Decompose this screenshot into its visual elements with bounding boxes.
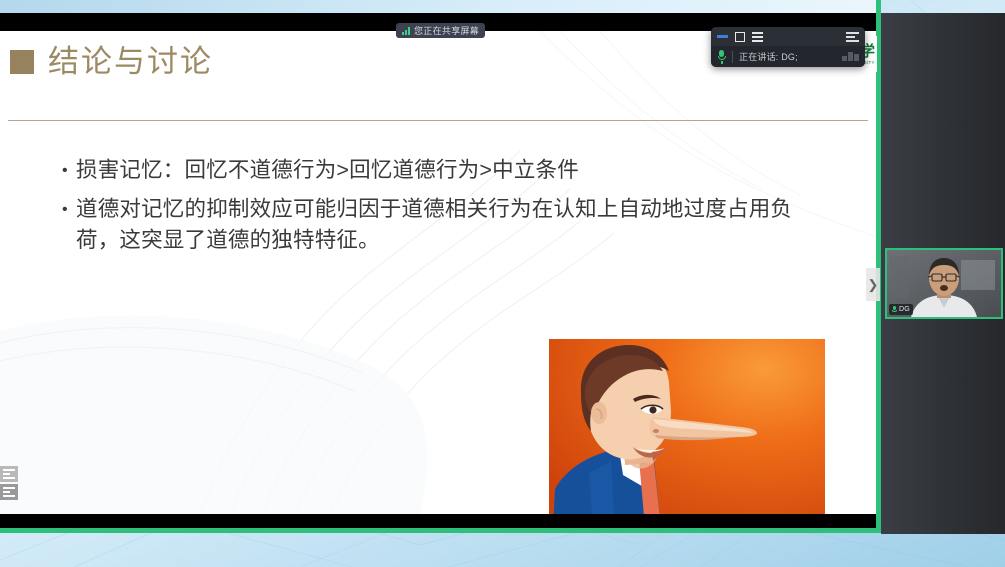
share-status-text: 您正在共享屏幕	[414, 24, 479, 37]
bullet-marker: •	[62, 194, 76, 225]
icon-line	[3, 469, 15, 471]
microphone-icon	[892, 306, 897, 313]
speaking-status-text: 正在讲话: DG;	[739, 50, 836, 63]
letterbox-bar-bottom	[0, 514, 876, 528]
participant-video-tile[interactable]: DG	[885, 248, 1003, 319]
speaking-status-row: 正在讲话: DG;	[711, 46, 865, 67]
microphone-icon[interactable]	[717, 50, 726, 63]
expand-panel-chevron-right-icon[interactable]: ❯	[866, 268, 880, 301]
shared-screen-region: 结论与讨论 • 损害记忆：回忆不道德行为>回忆道德行为>中立条件 • 道德对记忆…	[0, 0, 881, 533]
icon-line	[3, 495, 15, 497]
minimize-icon[interactable]	[717, 35, 728, 38]
screen-sharing-badge: 您正在共享屏幕	[396, 23, 485, 38]
presentation-slide: 结论与讨论 • 损害记忆：回忆不道德行为>回忆道德行为>中立条件 • 道德对记忆…	[0, 31, 876, 514]
panel-toggle-icon[interactable]	[846, 32, 859, 42]
bullet-marker: •	[62, 155, 76, 186]
maximize-icon[interactable]	[735, 32, 745, 42]
audio-level-icon	[842, 52, 859, 61]
toolbar-window-controls-row	[711, 27, 865, 46]
signal-bars-icon	[402, 27, 410, 35]
icon-line	[3, 491, 10, 493]
menu-icon[interactable]	[752, 32, 763, 42]
meeting-floating-toolbar: 正在讲话: DG;	[711, 27, 865, 67]
toolbar-divider	[732, 51, 733, 63]
icon-line	[3, 477, 15, 479]
bullet-text: 损害记忆：回忆不道德行为>回忆道德行为>中立条件	[76, 155, 832, 186]
shared-screen-content: 结论与讨论 • 损害记忆：回忆不道德行为>回忆道德行为>中立条件 • 道德对记忆…	[0, 0, 876, 528]
title-marker-square	[10, 50, 34, 74]
bullet-item: • 损害记忆：回忆不道德行为>回忆道德行为>中立条件	[62, 155, 832, 186]
title-divider	[8, 120, 868, 121]
slide-title-row: 结论与讨论	[10, 46, 213, 77]
icon-line	[3, 473, 10, 475]
bullet-item: • 道德对记忆的抑制效应可能归因于道德相关行为在认知上自动地过度占用负荷，这突显…	[62, 194, 832, 256]
slide-illustration	[549, 339, 825, 514]
slide-title: 结论与讨论	[48, 46, 213, 77]
icon-line	[3, 487, 15, 489]
long-nose-man-figure	[549, 339, 825, 514]
window-control-group	[717, 32, 763, 42]
list-icon-1[interactable]	[0, 466, 18, 482]
remote-desktop-strip	[0, 0, 876, 13]
bullet-text: 道德对记忆的抑制效应可能归因于道德相关行为在认知上自动地过度占用负荷，这突显了道…	[76, 194, 832, 256]
participant-name-badge: DG	[889, 304, 913, 315]
list-icon-2[interactable]	[0, 484, 18, 500]
slide-bullet-list: • 损害记忆：回忆不道德行为>回忆道德行为>中立条件 • 道德对记忆的抑制效应可…	[62, 155, 832, 264]
desktop: 结论与讨论 • 损害记忆：回忆不道德行为>回忆道德行为>中立条件 • 道德对记忆…	[0, 0, 1005, 567]
corner-icon-group	[0, 466, 18, 500]
participant-name: DG	[899, 306, 910, 313]
